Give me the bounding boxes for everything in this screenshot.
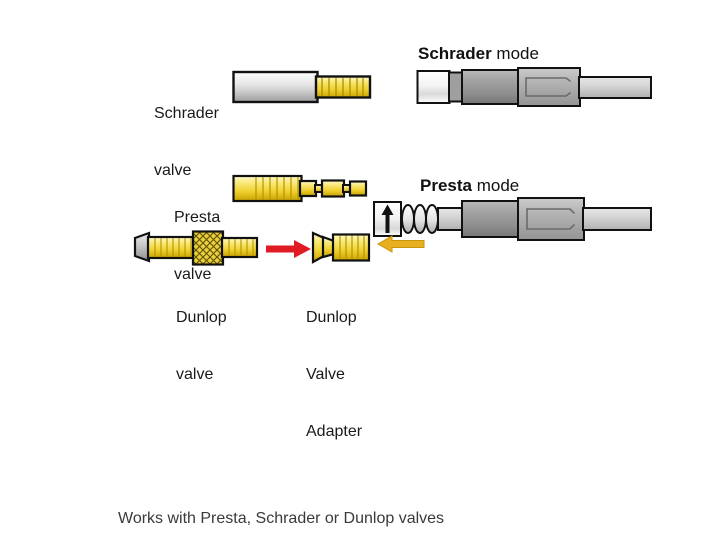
- presta-mode-bold: Presta: [420, 176, 472, 195]
- presta-valve-icon: [232, 171, 370, 207]
- dunlop-adapter-label-line3: Adapter: [306, 422, 362, 441]
- pump-head-schrader-icon: [416, 66, 652, 112]
- dunlop-valve-label-line2: valve: [176, 365, 227, 384]
- dunlop-adapter-label-line2: Valve: [306, 365, 362, 384]
- footer-caption: Works with Presta, Schrader or Dunlop va…: [118, 510, 444, 528]
- presta-valve-label-line1: Presta: [174, 208, 220, 227]
- schrader-valve-label-line1: Schrader: [154, 104, 219, 123]
- dunlop-valve-adapter-icon: [310, 228, 372, 268]
- schrader-valve-icon: [232, 68, 372, 110]
- yellow-arrow-left-icon: [378, 236, 424, 252]
- diagram-canvas: Schrader valve: [0, 0, 720, 540]
- schrader-mode-light: mode: [492, 44, 539, 63]
- dunlop-valve-icon: [133, 229, 259, 267]
- dunlop-valve-label-line1: Dunlop: [176, 308, 227, 327]
- dunlop-valve-label: Dunlop valve: [176, 270, 227, 422]
- dunlop-adapter-label-line1: Dunlop: [306, 308, 362, 327]
- schrader-mode-heading: Schrader mode: [418, 44, 539, 64]
- dunlop-valve-adapter-label: Dunlop Valve Adapter: [306, 270, 362, 479]
- pump-head-presta-icon: [372, 196, 652, 252]
- red-arrow-right-icon: [266, 239, 312, 259]
- schrader-mode-bold: Schrader: [418, 44, 492, 63]
- presta-mode-light: mode: [472, 176, 519, 195]
- presta-mode-heading: Presta mode: [420, 176, 519, 196]
